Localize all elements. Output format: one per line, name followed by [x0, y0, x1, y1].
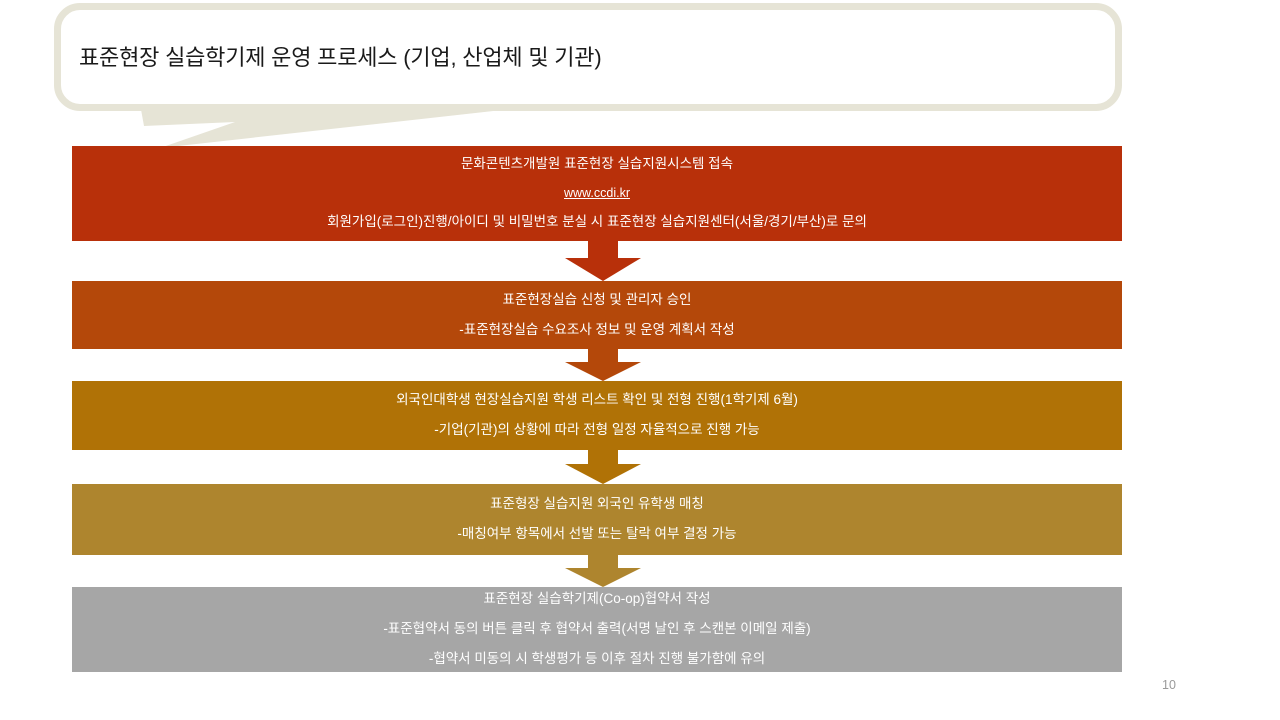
flow-step-5-line-2: -표준협약서 동의 버튼 클릭 후 협약서 출력(서명 날인 후 스캔본 이메일… — [383, 622, 810, 637]
flow-step-4: 표준형장 실습지원 외국인 유학생 매칭 -매칭여부 항목에서 선발 또는 탈락… — [72, 484, 1122, 555]
title-callout-box: 표준현장 실습학기제 운영 프로세스 (기업, 산업체 및 기관) — [54, 3, 1122, 111]
flow-step-4-line-2: -매칭여부 항목에서 선발 또는 탈락 여부 결정 가능 — [457, 527, 736, 542]
flow-step-3: 외국인대학생 현장실습지원 학생 리스트 확인 및 전형 진행(1학기제 6월)… — [72, 381, 1122, 450]
down-arrow-icon-4 — [565, 555, 641, 587]
down-arrow-icon-3 — [565, 450, 641, 484]
flow-step-1: 문화콘텐츠개발원 표준현장 실습지원시스템 접속 www.ccdi.kr 회원가… — [72, 146, 1122, 241]
flow-step-2-line-1: 표준현장실습 신청 및 관리자 승인 — [503, 293, 692, 308]
flow-step-3-line-1: 외국인대학생 현장실습지원 학생 리스트 확인 및 전형 진행(1학기제 6월) — [396, 393, 798, 408]
flow-step-5-line-1: 표준현장 실습학기제(Co-op)협약서 작성 — [483, 592, 710, 607]
flow-step-2-line-2: -표준현장실습 수요조사 정보 및 운영 계획서 작성 — [459, 323, 734, 338]
flow-step-2: 표준현장실습 신청 및 관리자 승인 -표준현장실습 수요조사 정보 및 운영 … — [72, 281, 1122, 349]
page-number: 10 — [1162, 678, 1176, 692]
flow-step-5: 표준현장 실습학기제(Co-op)협약서 작성 -표준협약서 동의 버튼 클릭 … — [72, 587, 1122, 672]
down-arrow-icon-1 — [565, 241, 641, 281]
flow-step-4-line-1: 표준형장 실습지원 외국인 유학생 매칭 — [490, 497, 704, 512]
ccdi-website-link[interactable]: www.ccdi.kr — [564, 186, 630, 200]
flow-step-3-line-2: -기업(기관)의 상황에 따라 전형 일정 자율적으로 진행 가능 — [434, 423, 759, 438]
down-arrow-icon-2 — [565, 349, 641, 381]
slide-canvas: 표준현장 실습학기제 운영 프로세스 (기업, 산업체 및 기관) 문화콘텐츠개… — [0, 0, 1280, 720]
flow-step-5-line-3: -협약서 미동의 시 학생평가 등 이후 절차 진행 불가함에 유의 — [429, 652, 765, 667]
flow-step-1-line-1: 문화콘텐츠개발원 표준현장 실습지원시스템 접속 — [461, 157, 733, 172]
flow-step-1-line-2: 회원가입(로그인)진행/아이디 및 비밀번호 분실 시 표준현장 실습지원센터(… — [327, 215, 867, 230]
page-title: 표준현장 실습학기제 운영 프로세스 (기업, 산업체 및 기관) — [79, 40, 601, 72]
